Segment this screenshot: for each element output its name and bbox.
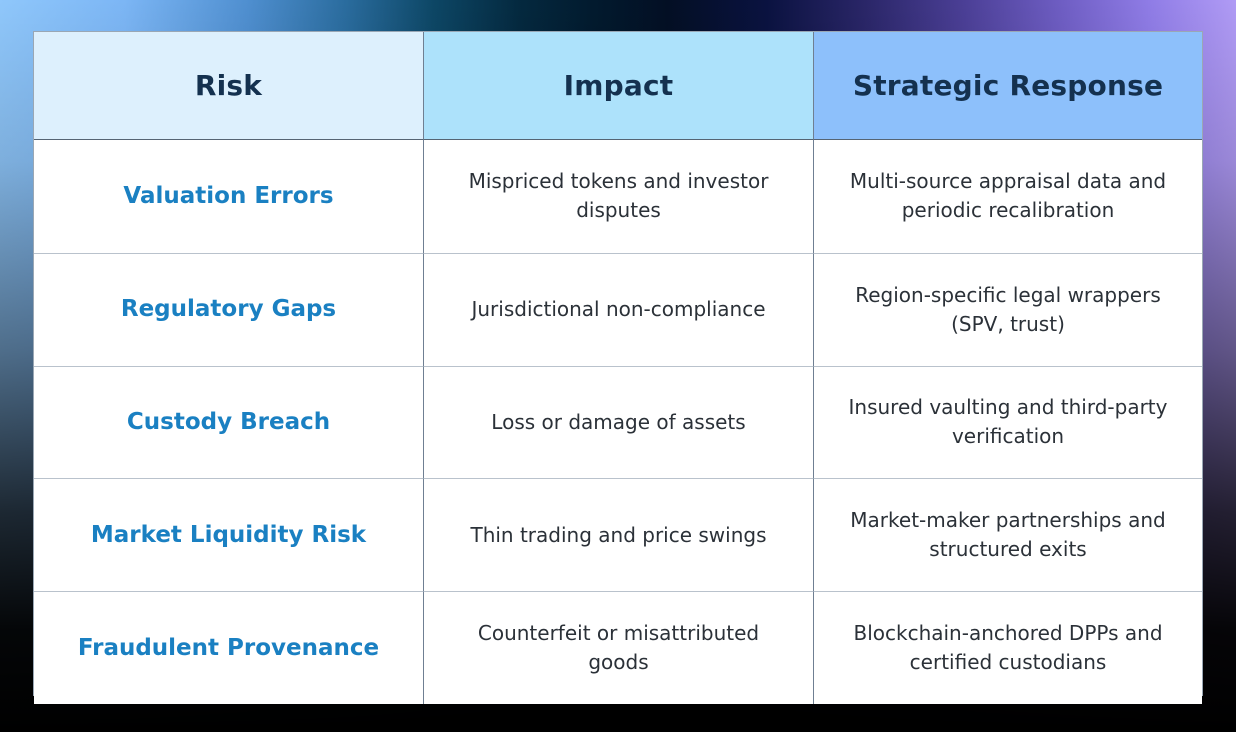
strategic-response-text: Market-maker partnerships and structured… <box>832 506 1184 564</box>
risk-label: Valuation Errors <box>123 182 333 211</box>
column-header-impact: Impact <box>424 32 814 140</box>
risk-matrix-table: Risk Impact Strategic Response Valuation… <box>33 31 1203 696</box>
cell-risk: Market Liquidity Risk <box>34 478 424 591</box>
cell-risk: Regulatory Gaps <box>34 253 424 366</box>
cell-impact: Loss or damage of assets <box>424 366 814 479</box>
table-header-row: Risk Impact Strategic Response <box>34 32 1202 140</box>
cell-strategic-response: Blockchain-anchored DPPs and certified c… <box>814 591 1202 704</box>
cell-impact: Counterfeit or misattributed goods <box>424 591 814 704</box>
cell-impact: Mispriced tokens and investor disputes <box>424 140 814 253</box>
strategic-response-text: Multi-source appraisal data and periodic… <box>832 167 1184 225</box>
cell-risk: Fraudulent Provenance <box>34 591 424 704</box>
table-row: Market Liquidity Risk Thin trading and p… <box>34 478 1202 591</box>
cell-risk: Custody Breach <box>34 366 424 479</box>
strategic-response-text: Blockchain-anchored DPPs and certified c… <box>832 619 1184 677</box>
risk-label: Market Liquidity Risk <box>91 521 366 550</box>
cell-impact: Thin trading and price swings <box>424 478 814 591</box>
cell-impact: Jurisdictional non-compliance <box>424 253 814 366</box>
column-header-strategic-response-label: Strategic Response <box>853 69 1163 103</box>
risk-label: Fraudulent Provenance <box>78 634 379 663</box>
strategic-response-text: Region-specific legal wrappers (SPV, tru… <box>843 281 1173 339</box>
risk-label: Regulatory Gaps <box>121 295 336 324</box>
impact-text: Counterfeit or misattributed goods <box>454 619 784 677</box>
impact-text: Thin trading and price swings <box>470 521 766 550</box>
strategic-response-text: Insured vaulting and third-party verific… <box>843 393 1173 451</box>
table-row: Regulatory Gaps Jurisdictional non-compl… <box>34 253 1202 366</box>
column-header-risk-label: Risk <box>195 69 262 103</box>
column-header-risk: Risk <box>34 32 424 140</box>
impact-text: Mispriced tokens and investor disputes <box>454 167 784 225</box>
table-row: Fraudulent Provenance Counterfeit or mis… <box>34 591 1202 704</box>
impact-text: Jurisdictional non-compliance <box>471 295 765 324</box>
table-row: Custody Breach Loss or damage of assets … <box>34 366 1202 479</box>
cell-risk: Valuation Errors <box>34 140 424 253</box>
column-header-strategic-response: Strategic Response <box>814 32 1202 140</box>
cell-strategic-response: Insured vaulting and third-party verific… <box>814 366 1202 479</box>
impact-text: Loss or damage of assets <box>491 408 745 437</box>
cell-strategic-response: Multi-source appraisal data and periodic… <box>814 140 1202 253</box>
cell-strategic-response: Region-specific legal wrappers (SPV, tru… <box>814 253 1202 366</box>
column-header-impact-label: Impact <box>564 69 674 103</box>
risk-label: Custody Breach <box>127 408 330 437</box>
cell-strategic-response: Market-maker partnerships and structured… <box>814 478 1202 591</box>
table-row: Valuation Errors Mispriced tokens and in… <box>34 140 1202 253</box>
